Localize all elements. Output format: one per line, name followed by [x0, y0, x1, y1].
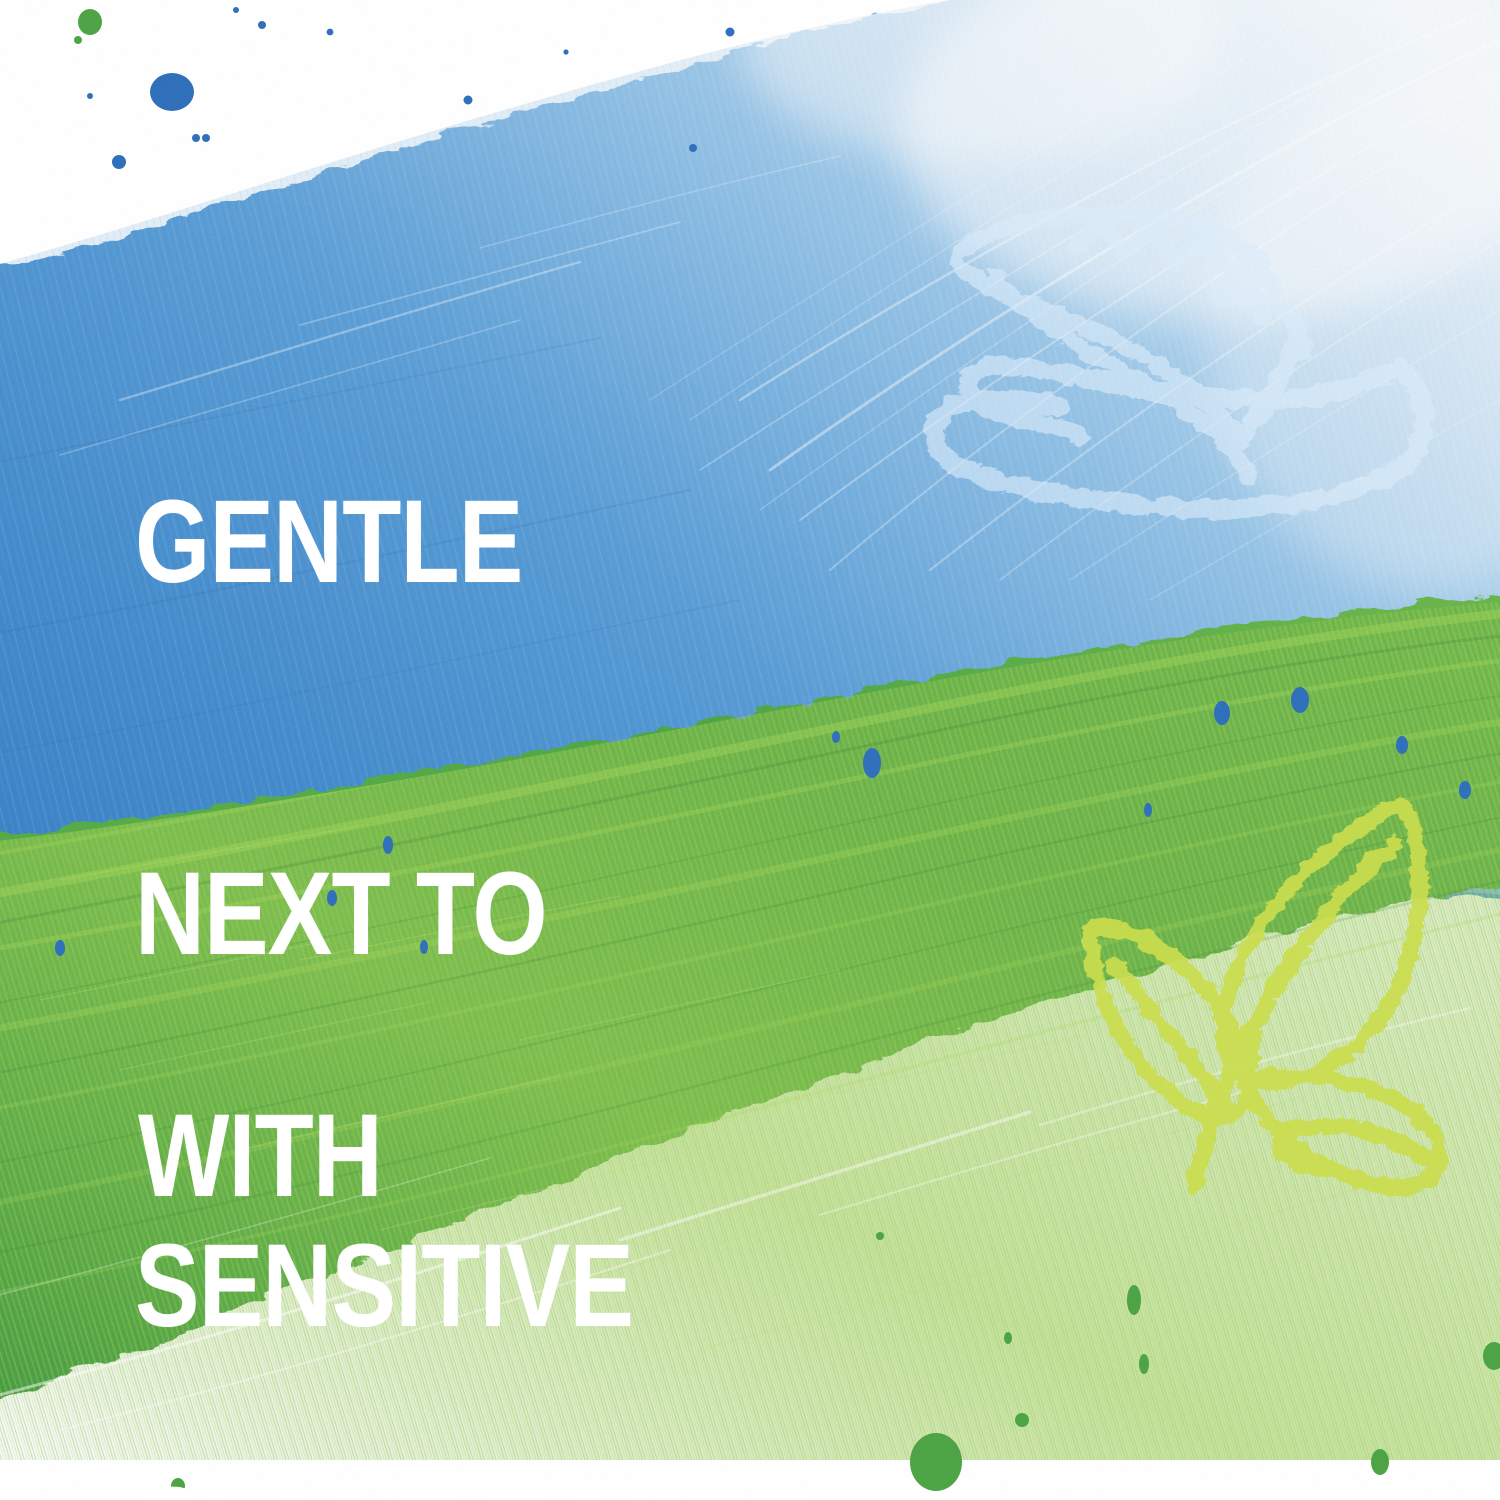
blue-headline-line-1: GENTLE: [135, 480, 633, 604]
green-headline: WITH PLANT-BASED STAIN REMOVERS: [138, 846, 817, 1500]
marketing-banner: GENTLE NEXT TO SENSITIVE SKIN WITH PLANT…: [0, 0, 1500, 1500]
feather-in-hand-icon: [934, 213, 1424, 509]
green-headline-line-2: PLANT-BASED: [138, 1466, 817, 1500]
green-headline-line-1: WITH: [138, 1094, 817, 1218]
three-leaf-sprout-icon: [1091, 805, 1440, 1187]
